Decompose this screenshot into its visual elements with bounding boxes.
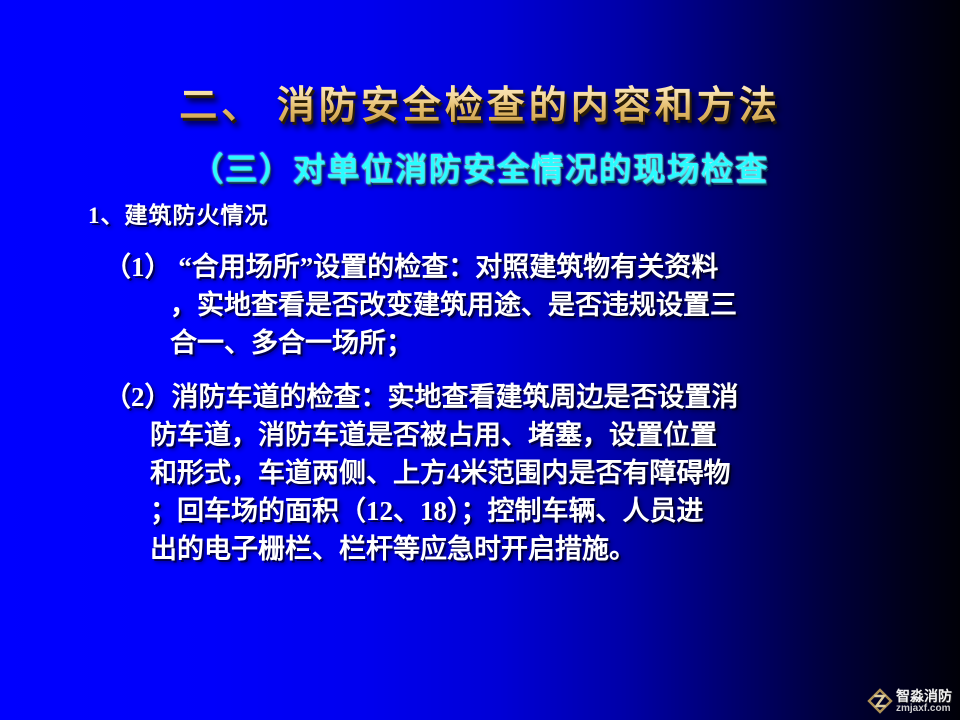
watermark: 智淼消防 zmjaxf.com <box>867 688 952 714</box>
list-item-line: （2）消防车道的检查：实地查看建筑周边是否设置消 <box>0 378 960 416</box>
body-content: 1、建筑防火情况 （1） “合用场所”设置的检查：对照建筑物有关资料 ，实地查看… <box>0 196 960 568</box>
list-item-line: （1） “合用场所”设置的检查：对照建筑物有关资料 <box>0 248 960 286</box>
diamond-z-logo-icon <box>867 688 893 714</box>
slide-canvas: 二、 消防安全检查的内容和方法 （三）对单位消防安全情况的现场检查 1、建筑防火… <box>0 0 960 720</box>
list-item-line: 合一、多合一场所； <box>0 324 960 362</box>
title-container: 二、 消防安全检查的内容和方法 <box>0 74 960 129</box>
spacer <box>0 362 960 378</box>
list-item-line: ；回车场的面积（12、18）；控制车辆、人员进 <box>0 492 960 530</box>
subtitle-container: （三）对单位消防安全情况的现场检查 <box>0 144 960 190</box>
page-title: 二、 消防安全检查的内容和方法 <box>179 74 781 129</box>
list-item-line: 和形式，车道两侧、上方4米范围内是否有障碍物 <box>0 454 960 492</box>
list-item-line: 防车道，消防车道是否被占用、堵塞，设置位置 <box>0 416 960 454</box>
list-item: （1） “合用场所”设置的检查：对照建筑物有关资料 ，实地查看是否改变建筑用途、… <box>0 248 960 362</box>
body-heading: 1、建筑防火情况 <box>0 196 960 236</box>
watermark-text: 智淼消防 zmjaxf.com <box>896 689 952 714</box>
list-item-line: 出的电子栅栏、栏杆等应急时开启措施。 <box>0 530 960 568</box>
spacer <box>0 236 960 248</box>
list-item-line: ，实地查看是否改变建筑用途、是否违规设置三 <box>0 286 960 324</box>
watermark-url: zmjaxf.com <box>896 704 952 714</box>
watermark-brand: 智淼消防 <box>896 689 952 703</box>
page-subtitle: （三）对单位消防安全情况的现场检查 <box>191 144 769 190</box>
list-item: （2）消防车道的检查：实地查看建筑周边是否设置消 防车道，消防车道是否被占用、堵… <box>0 378 960 568</box>
